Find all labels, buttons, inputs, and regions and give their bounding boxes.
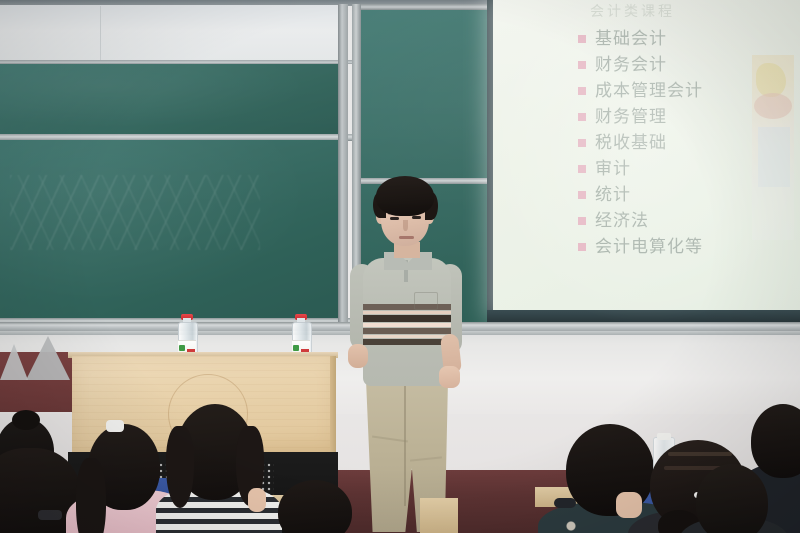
bullet-square-icon — [578, 217, 586, 225]
lecturer-eye-right — [412, 216, 421, 219]
bullet-square-icon — [578, 191, 586, 199]
student-back-7 — [686, 452, 778, 533]
hair-clip-icon — [106, 420, 124, 432]
slide-bullet-item: 税收基础 — [578, 130, 800, 156]
slide-bullet-item: 财务会计 — [578, 52, 800, 78]
chalk-residue — [10, 175, 260, 250]
student-hair-side-ponytail — [76, 458, 106, 533]
bullet-label: 审计 — [595, 159, 631, 179]
bullet-square-icon — [578, 87, 586, 95]
slide-bullet-item: 会计电算化等 — [578, 234, 800, 260]
bullet-square-icon — [578, 113, 586, 121]
hair-band-icon — [554, 498, 576, 508]
trouser-seam — [404, 386, 406, 506]
projection-screen: 12 1 2 3 4 5 6 7 8 9 10 11 — [493, 0, 800, 313]
bullet-square-icon — [578, 165, 586, 173]
bullet-label: 财务管理 — [595, 107, 667, 127]
bullet-square-icon — [578, 35, 586, 43]
bullet-square-icon — [578, 61, 586, 69]
student-hair-left-fall — [166, 426, 194, 508]
slide-bullet-item: 成本管理会计 — [578, 78, 800, 104]
bullet-label: 财务会计 — [595, 55, 667, 75]
lecturer-right-hand — [439, 366, 460, 388]
shirt-stripe — [363, 323, 451, 327]
lecturer-left-hand — [348, 344, 368, 368]
student-desk — [420, 498, 458, 533]
student-back-3 — [160, 404, 272, 533]
triangular-stand-small — [0, 344, 28, 380]
projection-screen-bottom-bar — [487, 310, 800, 322]
shirt-stripe — [363, 315, 451, 322]
slide-bullet-item: 审计 — [578, 156, 800, 182]
bullet-label: 统计 — [595, 185, 631, 205]
bottle-label-green-mark — [293, 345, 299, 351]
classroom-photo: 12 1 2 3 4 5 6 7 8 9 10 11 — [0, 0, 800, 533]
slide-bullet-list: 基础会计 财务会计 成本管理会计 财务管理 税收基础 审计 — [578, 26, 800, 260]
shirt-pocket — [414, 292, 438, 310]
bullet-label: 经济法 — [595, 211, 649, 231]
triangular-stand — [26, 336, 70, 380]
bullet-label: 基础会计 — [595, 29, 667, 49]
bottle-cap-icon — [657, 433, 671, 440]
slide-bullet-item: 财务管理 — [578, 104, 800, 130]
lecturer-eye-left — [390, 217, 399, 220]
student-hair-bun — [12, 410, 40, 430]
bullet-square-icon — [578, 243, 586, 251]
lecturer-mouth — [399, 236, 414, 239]
slide-bullet-item: 统计 — [578, 182, 800, 208]
panel-seam — [100, 6, 101, 61]
eyeglass-temple-icon — [38, 510, 62, 520]
lecturer-nose — [403, 220, 408, 231]
chalkboard-left-upper — [0, 64, 348, 136]
student-hand — [616, 492, 642, 518]
student-hair — [278, 480, 352, 533]
shirt-stripe — [363, 339, 451, 345]
bullet-label: 会计电算化等 — [595, 237, 703, 257]
shirt-stripe — [363, 311, 451, 314]
podium-side-edge — [330, 356, 336, 454]
student-raised-hand — [248, 488, 266, 512]
bullet-label: 税收基础 — [595, 133, 667, 153]
upper-white-panel — [0, 5, 348, 65]
bottle-label-green-mark — [179, 345, 185, 351]
slide-bullet-item: 经济法 — [578, 208, 800, 234]
slide-title: 会计类课程 — [590, 1, 790, 17]
bullet-square-icon — [578, 139, 586, 147]
shirt-stripe — [363, 335, 451, 338]
shirt-stripe — [363, 328, 451, 334]
student-hair — [696, 464, 768, 533]
slide-bullet-item: 基础会计 — [578, 26, 800, 52]
student-back-8 — [278, 480, 368, 533]
lecturer-hair — [376, 176, 434, 216]
bullet-label: 成本管理会计 — [595, 81, 703, 101]
